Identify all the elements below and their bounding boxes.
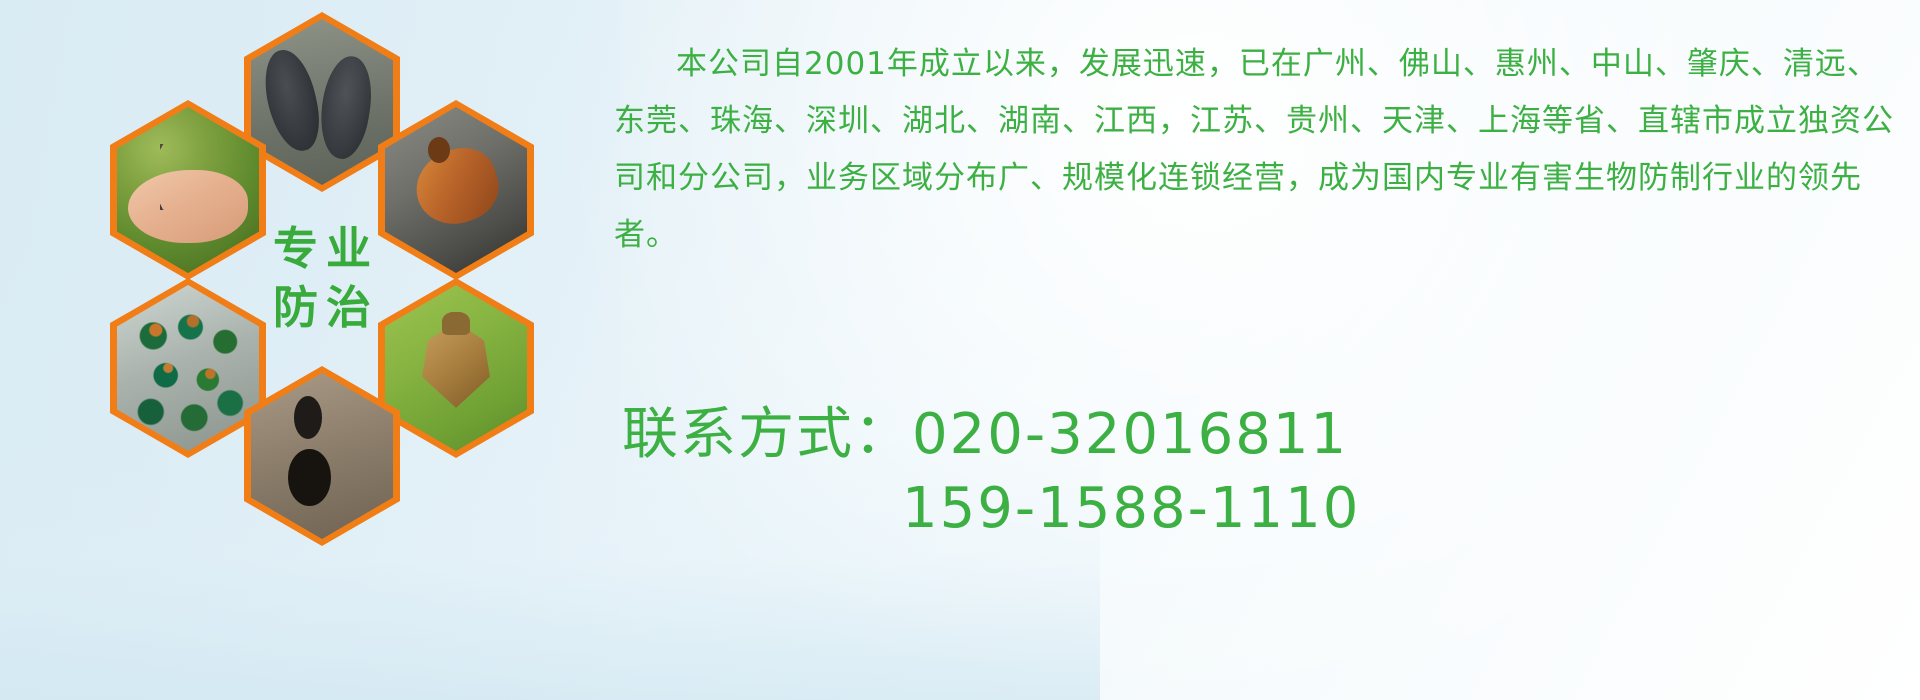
hex-cell-flies[interactable]	[110, 278, 266, 458]
copy-block: 本公司自2001年成立以来，发展迅速，已在广州、佛山、惠州、中山、肇庆、清远、东…	[614, 36, 1914, 264]
hex-cell-stinkbug[interactable]	[378, 278, 534, 458]
hex-inner	[385, 285, 527, 451]
stinkbug-photo	[385, 285, 527, 451]
contact-block: 联系方式：020-32016811 159-1588-1110	[622, 398, 1912, 546]
hex-cell-rats[interactable]	[244, 12, 400, 192]
hex-cell-roach[interactable]	[378, 100, 534, 280]
rats-photo	[251, 19, 393, 185]
hex-inner	[117, 107, 259, 273]
center-label-line1: 专业	[265, 226, 379, 271]
ant-photo	[251, 373, 393, 539]
honeycomb-center-label: 专业 防治	[244, 178, 400, 378]
mosquito-photo	[117, 107, 259, 273]
hex-inner	[251, 19, 393, 185]
flies-photo	[117, 285, 259, 451]
contact-line-landline[interactable]: 联系方式：020-32016811	[622, 398, 1912, 472]
hex-cell-ant[interactable]	[244, 366, 400, 546]
hex-cell-mosquito[interactable]	[110, 100, 266, 280]
hex-inner	[251, 373, 393, 539]
roach-photo	[385, 107, 527, 273]
hex-inner	[117, 285, 259, 451]
company-intro-paragraph: 本公司自2001年成立以来，发展迅速，已在广州、佛山、惠州、中山、肇庆、清远、东…	[614, 36, 1899, 264]
banner-stage: 专业 防治 本公司自2001年成立以来，发展迅速，已在广州、佛山、惠州、中山、肇…	[0, 0, 1920, 700]
center-label-line2: 防治	[265, 285, 379, 330]
honeycomb-collage: 专业 防治	[92, 8, 592, 568]
contact-line-mobile[interactable]: 159-1588-1110	[622, 472, 1912, 546]
hex-inner	[385, 107, 527, 273]
